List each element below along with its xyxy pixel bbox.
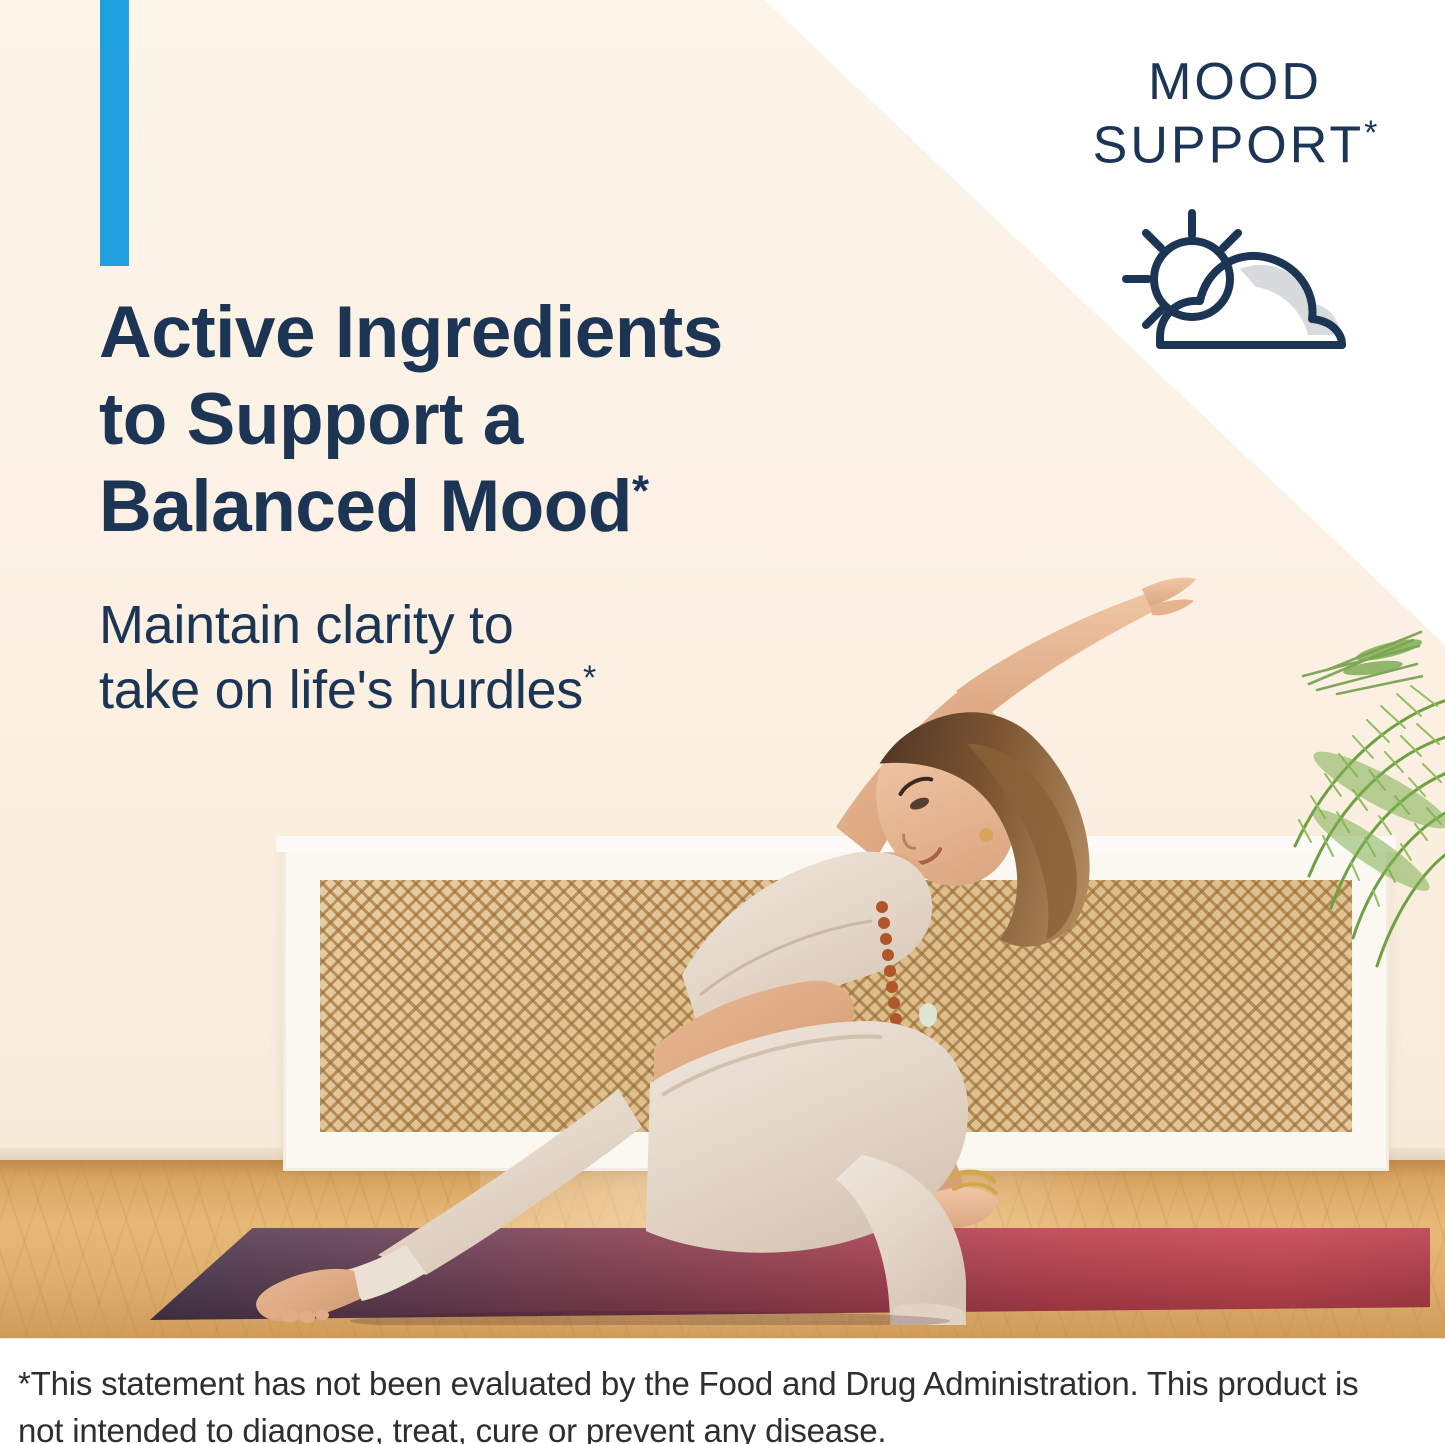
mood-support-badge: MOOD SUPPORT*: [1060, 52, 1410, 365]
subhead-asterisk: *: [583, 659, 596, 697]
yoga-woman: [250, 455, 1210, 1325]
badge-line-support: SUPPORT*: [1060, 113, 1410, 177]
badge-icon-wrap: [1060, 207, 1410, 365]
headline-line-3-text: Balanced Mood: [99, 466, 632, 547]
headline-line-2: to Support a: [99, 377, 879, 464]
headline-asterisk: *: [632, 466, 649, 515]
blue-accent-bar: [100, 0, 129, 266]
badge-support-text: SUPPORT: [1093, 117, 1364, 175]
headline-line-1: Active Ingredients: [99, 290, 879, 377]
page-subtitle: Maintain clarity to take on life's hurdl…: [99, 594, 799, 722]
subhead-line-2: take on life's hurdles*: [99, 658, 799, 723]
badge-asterisk: *: [1364, 114, 1377, 152]
footer-disclaimer-band: *This statement has not been evaluated b…: [0, 1338, 1445, 1444]
page-title: Active Ingredients to Support a Balanced…: [99, 290, 879, 551]
fda-disclaimer-text: *This statement has not been evaluated b…: [0, 1339, 1445, 1444]
badge-line-mood: MOOD: [1060, 52, 1410, 113]
infographic-canvas: MOOD SUPPORT*: [0, 0, 1445, 1444]
subhead-line-1: Maintain clarity to: [99, 594, 799, 658]
subhead-line-2-text: take on life's hurdles: [99, 660, 583, 720]
sun-behind-cloud-icon: [1120, 207, 1350, 365]
headline-line-3: Balanced Mood*: [99, 464, 879, 551]
